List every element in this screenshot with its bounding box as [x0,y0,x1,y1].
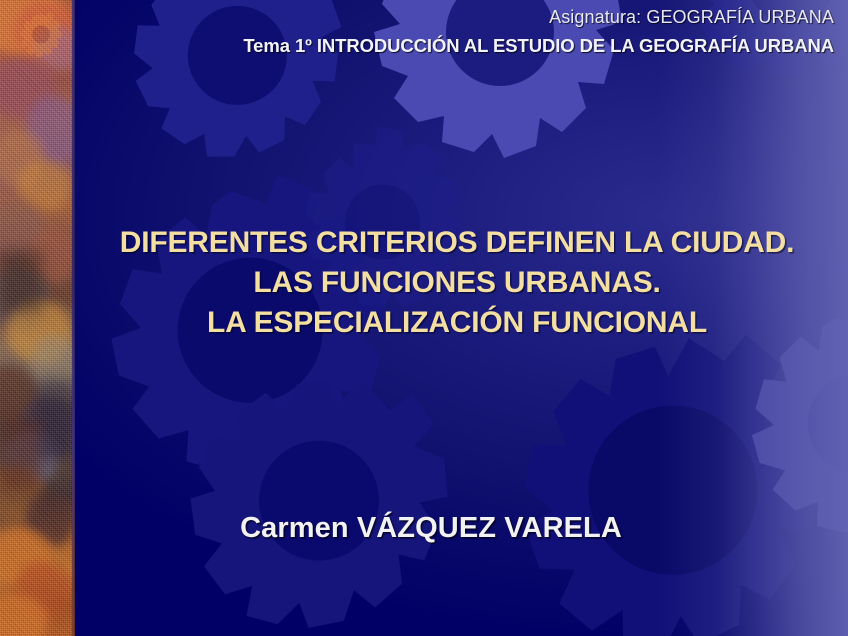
subject-label: Asignatura: GEOGRAFÍA URBANA [0,6,834,28]
presentation-slide: Asignatura: GEOGRAFÍA URBANA Tema 1º INT… [0,0,848,636]
page-title: DIFERENTES CRITERIOS DEFINEN LA CIUDAD. … [74,223,840,343]
title-line-3: LA ESPECIALIZACIÓN FUNCIONAL [74,303,840,343]
gear-collage-image [0,0,74,636]
title-line-1: DIFERENTES CRITERIOS DEFINEN LA CIUDAD. [74,223,840,263]
strip-texture-noise [0,0,74,636]
title-line-2: LAS FUNCIONES URBANAS. [74,263,840,303]
author-name: Carmen VÁZQUEZ VARELA [74,512,788,545]
slide-header: Asignatura: GEOGRAFÍA URBANA Tema 1º INT… [0,6,834,57]
author-block: Carmen VÁZQUEZ VARELA [74,512,788,545]
topic-label: Tema 1º INTRODUCCIÓN AL ESTUDIO DE LA GE… [0,35,834,57]
